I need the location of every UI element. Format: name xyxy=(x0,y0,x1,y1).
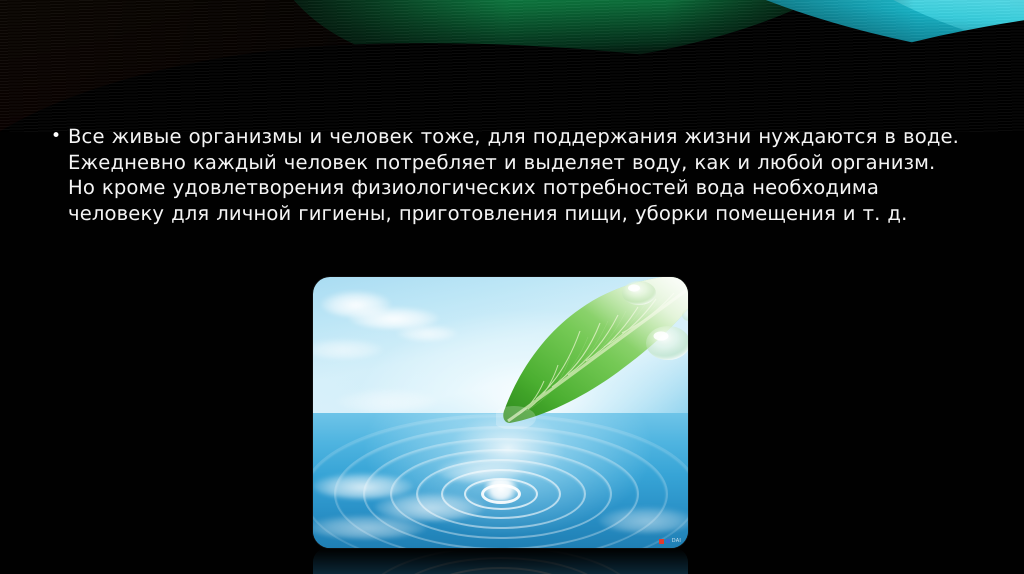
cloud-icon xyxy=(337,389,437,413)
water-splash-highlight xyxy=(481,479,521,501)
water-droplet-icon xyxy=(622,281,656,305)
image-watermark: DAI xyxy=(659,538,681,544)
water-droplet-icon xyxy=(646,326,688,360)
watermark-square-blue-icon xyxy=(666,539,670,543)
green-leaf-icon xyxy=(496,277,688,429)
slide-image-reflection xyxy=(313,548,688,574)
cloud-icon xyxy=(397,325,457,341)
bullet-marker-icon: • xyxy=(44,124,68,150)
watermark-text: DAI xyxy=(672,538,681,544)
decorative-ribbon-banner xyxy=(0,0,1024,132)
bullet-paragraph-text: Все живые организмы и человек тоже, для … xyxy=(68,124,964,227)
slide-canvas: • Все живые организмы и человек тоже, дл… xyxy=(0,0,1024,574)
bullet-list: • Все живые организмы и человек тоже, дл… xyxy=(44,124,964,227)
list-item: • Все живые организмы и человек тоже, дл… xyxy=(44,124,964,227)
watermark-square-red-icon xyxy=(659,539,664,544)
slide-image: DAI xyxy=(313,277,688,548)
